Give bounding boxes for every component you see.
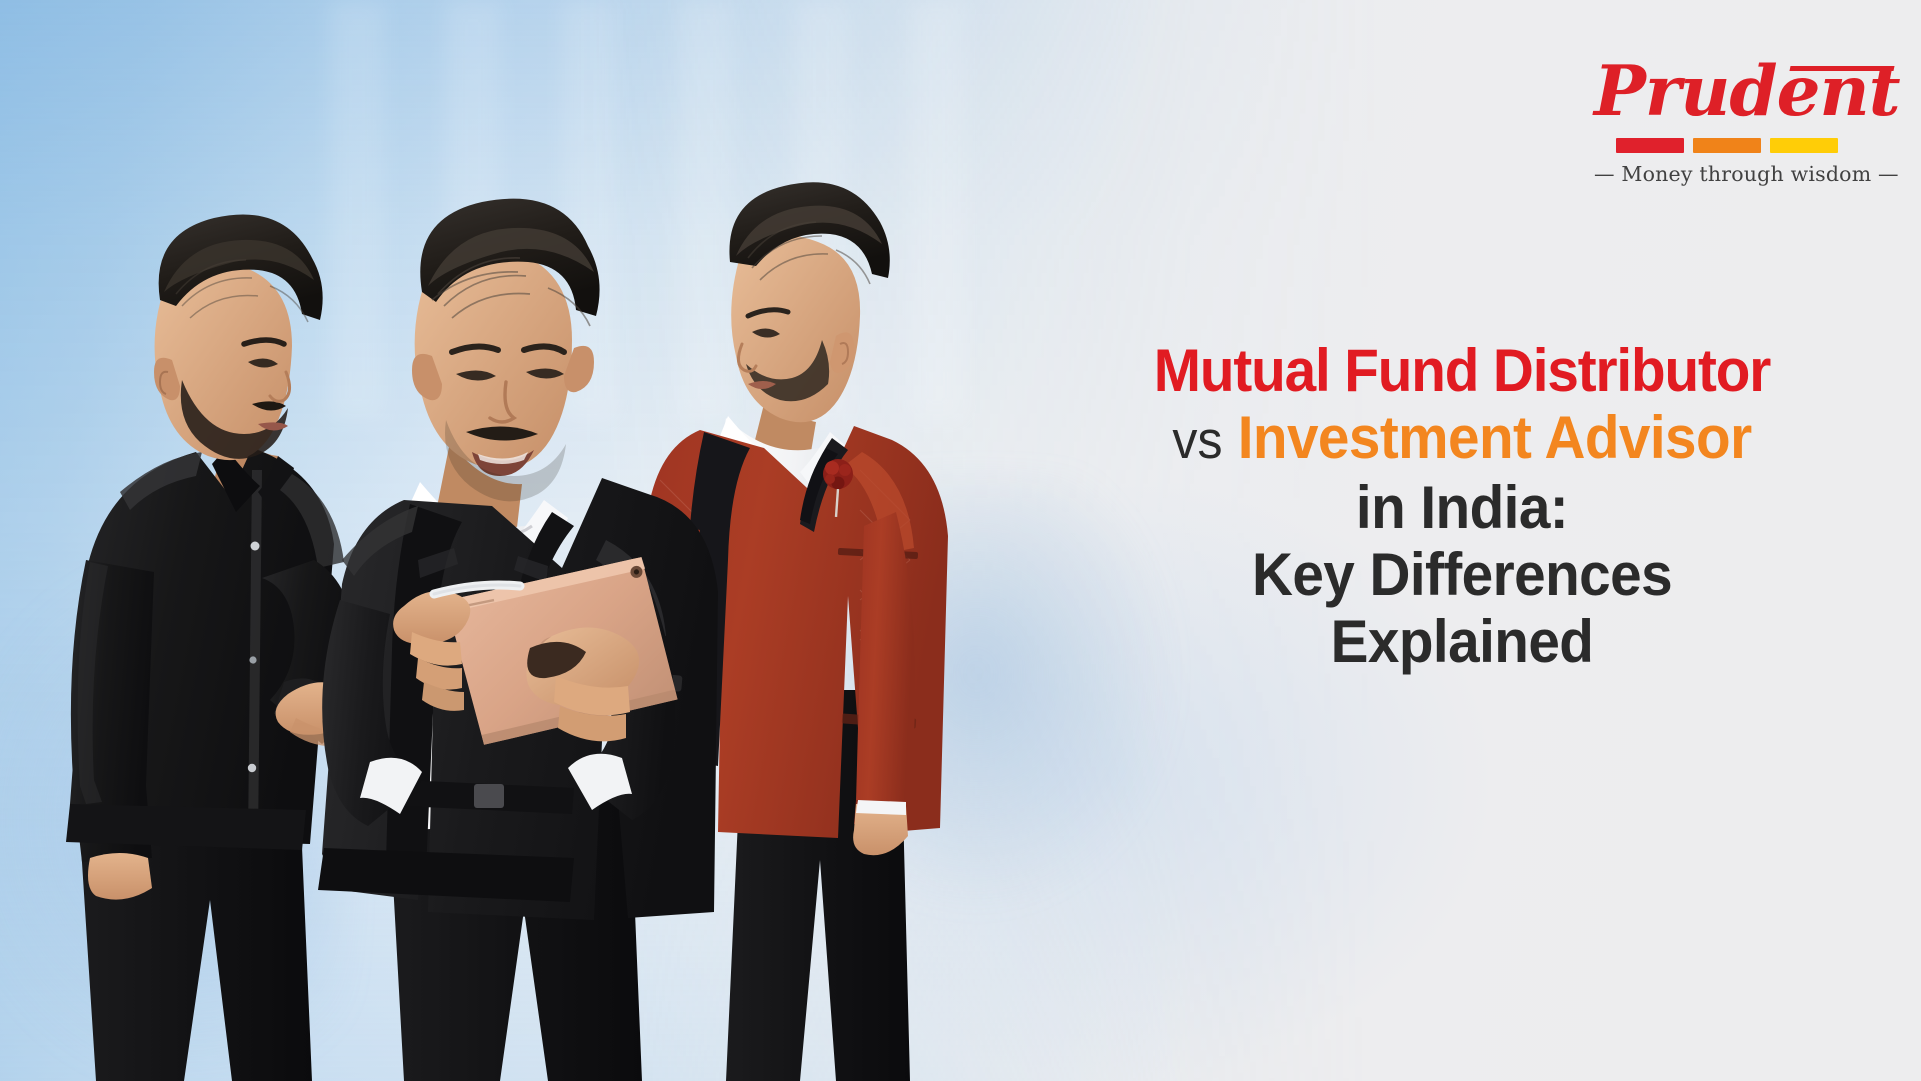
logo-overline-accent	[1789, 66, 1894, 71]
logo-color-bars	[1594, 138, 1860, 153]
headline-line-2: vs Investment Advisor	[1084, 404, 1840, 474]
headline-line-5: Explained	[1084, 608, 1840, 675]
headline-block: Mutual Fund Distributor vs Investment Ad…	[1062, 337, 1862, 675]
logo-wordmark: Prudent	[1594, 55, 1900, 129]
headline-line-4: Key Differences	[1084, 541, 1840, 608]
headline-vs-label: vs	[1172, 411, 1222, 470]
logo-bar-red	[1616, 138, 1684, 153]
headline-line-2-highlight: Investment Advisor	[1238, 404, 1752, 471]
person-center	[318, 199, 718, 1081]
banner-root: Prudent — Money through wisdom — Mutual …	[0, 0, 1921, 1081]
logo-bar-yellow	[1770, 138, 1838, 153]
headline-line-3: in India:	[1084, 474, 1840, 541]
brand-logo[interactable]: Prudent — Money through wisdom —	[1594, 55, 1860, 180]
logo-wordmark-text: Prudent	[1594, 51, 1900, 132]
logo-bar-orange	[1693, 138, 1761, 153]
headline-line-1: Mutual Fund Distributor	[1084, 337, 1840, 404]
photo-three-businessmen	[0, 0, 1060, 1081]
logo-tagline: — Money through wisdom —	[1594, 162, 1860, 186]
